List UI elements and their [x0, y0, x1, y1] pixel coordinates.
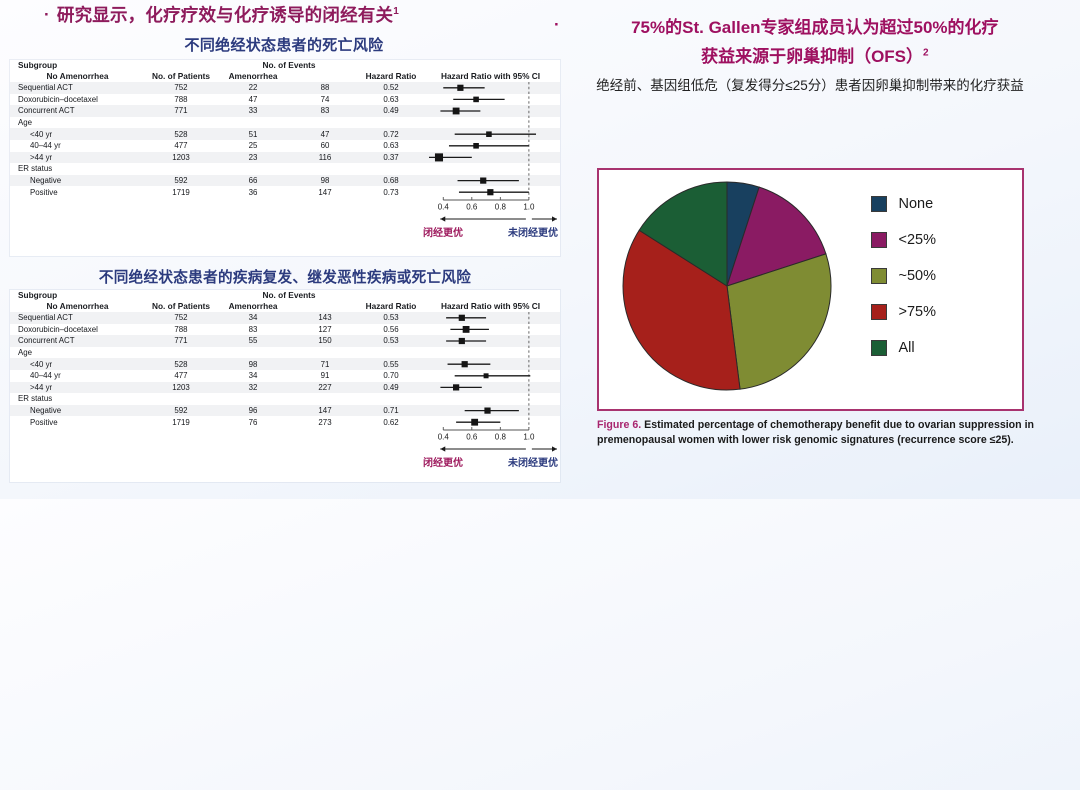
legend-label: All [899, 340, 915, 356]
x-axis-tick-label: 0.4 [438, 203, 450, 212]
hazard-ratio-marker [453, 108, 460, 115]
legend-swatch-icon [871, 232, 887, 248]
legend-swatch-icon [871, 268, 887, 284]
bullet-icon: · [554, 14, 560, 35]
legend-swatch-icon [871, 196, 887, 212]
hazard-ratio-marker [484, 408, 490, 414]
legend-label: >75% [899, 304, 937, 320]
legend-item: >75% [871, 304, 937, 320]
hazard-ratio-marker [459, 338, 465, 344]
footnote-ref-2: 2 [923, 47, 929, 58]
hazard-ratio-marker [484, 373, 489, 378]
x-axis-tick-label: 0.6 [466, 433, 478, 442]
legend-item: All [871, 340, 937, 356]
x-axis-tick-label: 0.6 [466, 203, 478, 212]
legend-label: None [899, 196, 934, 212]
left-heading-text: 研究显示，化疗疗效与化疗诱导的闭经有关1 [57, 4, 399, 28]
figure-caption: Figure 6. Estimated percentage of chemot… [597, 418, 1034, 449]
hazard-ratio-marker [471, 419, 478, 426]
hazard-ratio-marker [480, 178, 486, 184]
hazard-ratio-marker [453, 384, 459, 390]
figure-number: Figure 6. [597, 419, 641, 431]
x-axis-tick-label: 1.0 [523, 433, 535, 442]
slide-root: · 研究显示，化疗疗效与化疗诱导的闭经有关1 不同绝经状态患者的死亡风险 Sub… [0, 0, 1080, 499]
right-description: 绝经前、基因组低危（复发得分≤25分）患者因卵巢抑制带来的化疗获益 [540, 72, 1080, 96]
hazard-ratio-marker [457, 85, 463, 91]
legend-swatch-icon [871, 304, 887, 320]
right-panel: · 75%的St. Gallen专家组成员认为超过50%的化疗 获益来源于卵巢抑… [540, 0, 1080, 499]
legend-item: <25% [871, 232, 937, 248]
x-axis-tick-label: 1.0 [523, 203, 535, 212]
hazard-ratio-marker [459, 315, 465, 321]
legend-label: ~50% [899, 268, 937, 284]
right-heading-text: 75%的St. Gallen专家组成员认为超过50%的化疗 获益来源于卵巢抑制（… [570, 14, 1060, 72]
legend-swatch-icon [871, 340, 887, 356]
fig2-title: 不同绝经状态患者的疾病复发、继发恶性疾病或死亡风险 [10, 266, 560, 287]
hazard-ratio-marker [486, 131, 492, 137]
figure-1-card: Subgroup No. of Patients No. of Events H… [10, 60, 560, 256]
figure-2-card: Subgroup No. of Patients No. of Events H… [10, 290, 560, 482]
arrow-left-head [440, 446, 445, 451]
bullet-icon: · [44, 4, 50, 25]
x-axis-tick-label: 0.8 [495, 433, 507, 442]
hazard-ratio-marker [462, 361, 468, 367]
hazard-ratio-marker [463, 326, 470, 333]
x-axis-tick-label: 0.4 [438, 433, 450, 442]
fig1-title: 不同绝经状态患者的死亡风险 [0, 34, 568, 55]
figure-caption-text: Estimated percentage of chemotherapy ben… [597, 419, 1034, 446]
hazard-ratio-marker [473, 97, 479, 103]
hazard-ratio-marker [487, 189, 493, 195]
legend-label: <25% [899, 232, 937, 248]
pie-chart-svg [599, 170, 1022, 409]
right-heading: · 75%的St. Gallen专家组成员认为超过50%的化疗 获益来源于卵巢抑… [540, 0, 1080, 72]
footnote-ref-1: 1 [393, 6, 399, 17]
hazard-ratio-marker [435, 153, 443, 161]
pie-legend: None<25%~50%>75%All [871, 196, 937, 356]
legend-item: ~50% [871, 268, 937, 284]
arrow-left-head [440, 216, 445, 221]
x-axis-tick-label: 0.8 [495, 203, 507, 212]
pie-chart-figure: None<25%~50%>75%All [597, 168, 1024, 411]
legend-item: None [871, 196, 937, 212]
left-panel: · 研究显示，化疗疗效与化疗诱导的闭经有关1 不同绝经状态患者的死亡风险 Sub… [0, 0, 568, 499]
hazard-ratio-marker [473, 143, 479, 149]
left-heading: · 研究显示，化疗疗效与化疗诱导的闭经有关1 [0, 0, 568, 28]
